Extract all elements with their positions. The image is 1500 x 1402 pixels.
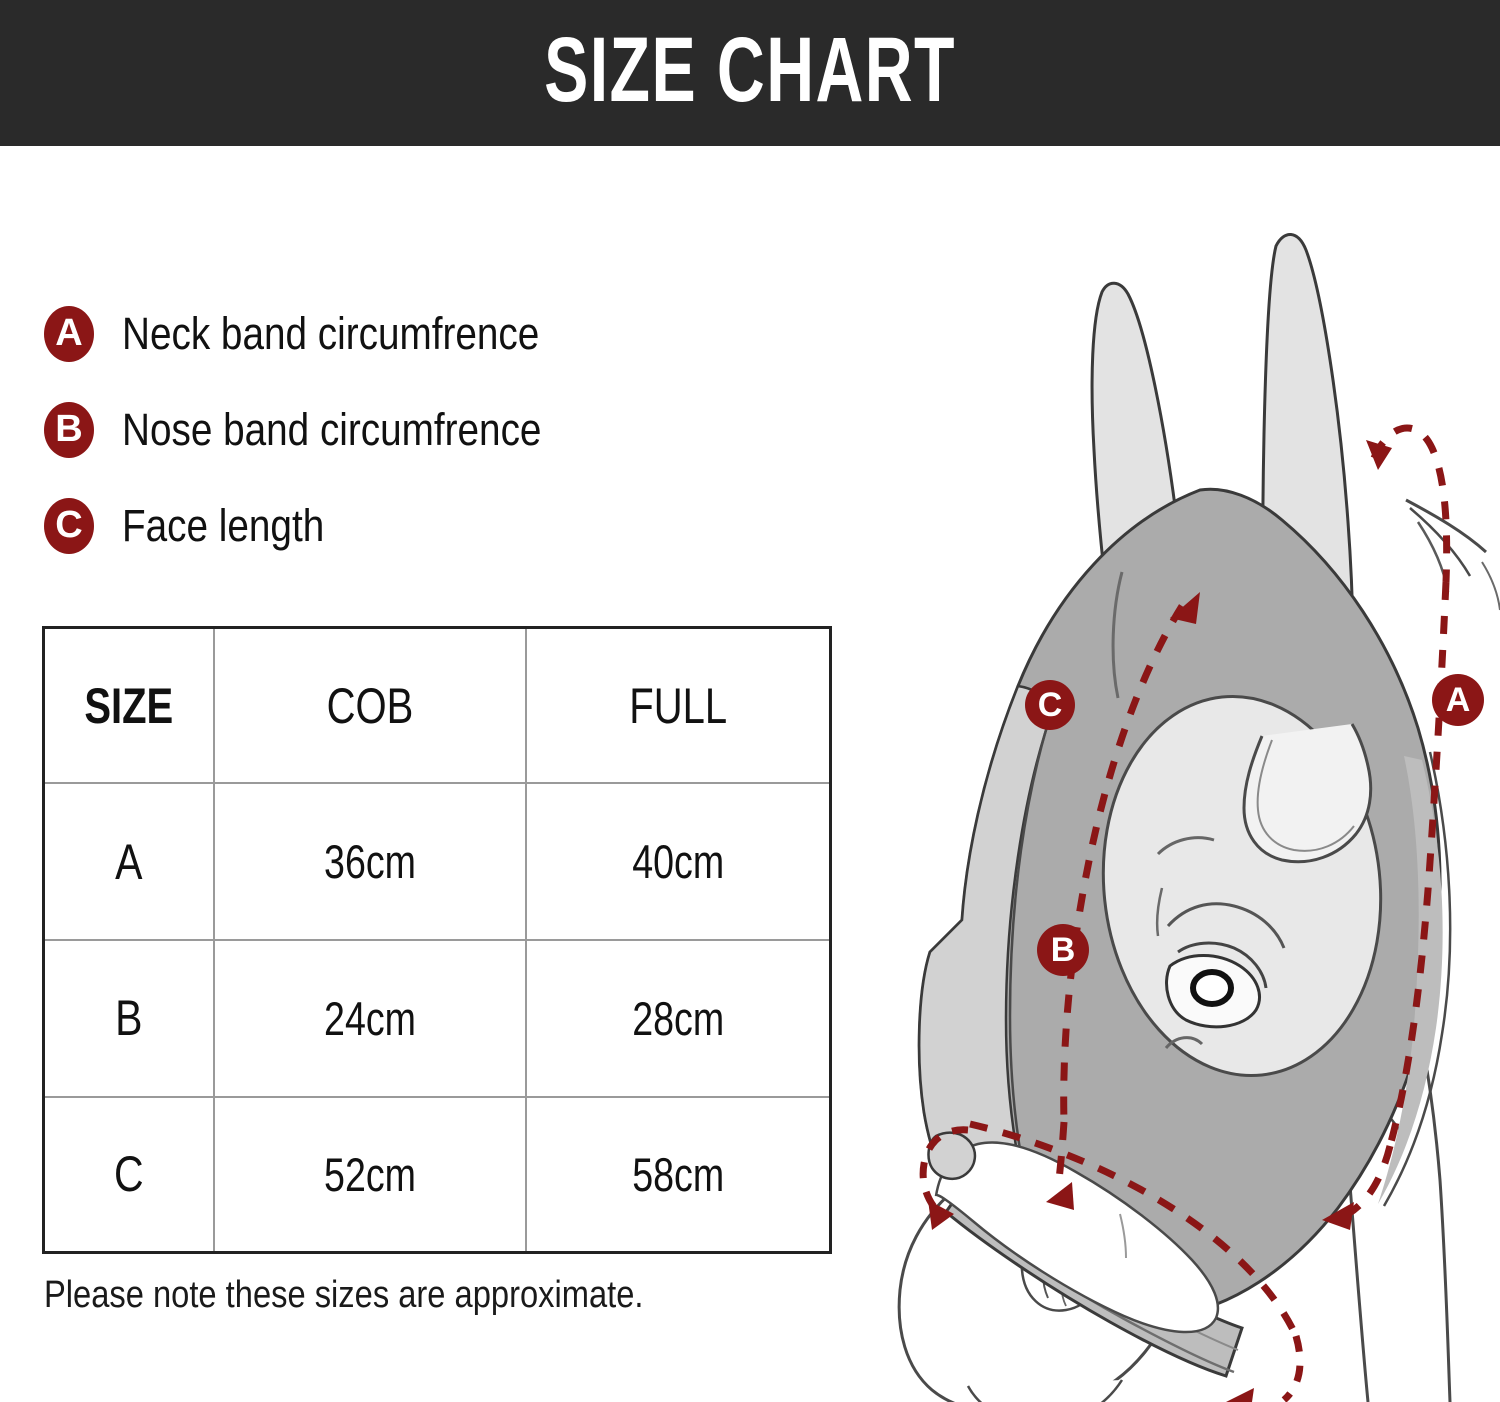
- cell-row-c-size: C: [45, 1097, 214, 1251]
- legend-item-b: B Nose band circumfrence: [44, 382, 844, 478]
- value-c-cob: 52cm: [246, 1147, 494, 1202]
- badge-b-icon: B: [44, 402, 94, 458]
- cell-row-b-cob: 24cm: [214, 940, 526, 1097]
- cell-row-a-full: 40cm: [526, 783, 829, 940]
- column-header-size-label: SIZE: [62, 677, 196, 735]
- cell-row-c-cob: 52cm: [214, 1097, 526, 1251]
- horse-mane: [1406, 500, 1500, 610]
- legend-label-c: Face length: [122, 500, 324, 552]
- column-header-full: FULL: [526, 629, 829, 783]
- horse-head-diagram: C A B: [870, 200, 1500, 1402]
- size-chart-page: SIZE CHART A Neck band circumfrence B No…: [0, 0, 1500, 1402]
- table-row: A 36cm 40cm: [45, 783, 829, 940]
- marker-b-label: B: [1051, 931, 1076, 969]
- size-table: SIZE COB FULL A 3: [42, 626, 832, 1254]
- badge-c-icon: C: [44, 498, 94, 554]
- header-bar: SIZE CHART: [0, 0, 1500, 146]
- marker-a-label: A: [1446, 681, 1471, 719]
- value-c-full: 58cm: [557, 1147, 799, 1202]
- cell-row-c-full: 58cm: [526, 1097, 829, 1251]
- marker-a-icon: A: [1432, 674, 1484, 726]
- cell-row-a-size: A: [45, 783, 214, 940]
- table-row: C 52cm 58cm: [45, 1097, 829, 1251]
- fly-mask: [919, 489, 1450, 1376]
- page-title: SIZE CHART: [544, 24, 956, 122]
- value-b-full: 28cm: [557, 991, 799, 1046]
- marker-c-icon: C: [1025, 680, 1075, 730]
- legend-list: A Neck band circumfrence B Nose band cir…: [44, 286, 844, 574]
- cell-row-b-size: B: [45, 940, 214, 1097]
- marker-b-icon: B: [1037, 924, 1089, 976]
- legend-item-a: A Neck band circumfrence: [44, 286, 844, 382]
- column-header-size: SIZE: [45, 629, 214, 783]
- legend-item-c: C Face length: [44, 478, 844, 574]
- row-label-a: A: [60, 833, 197, 891]
- value-a-cob: 36cm: [246, 834, 494, 889]
- value-b-cob: 24cm: [246, 991, 494, 1046]
- legend-label-a: Neck band circumfrence: [122, 308, 539, 360]
- column-header-cob: COB: [214, 629, 526, 783]
- value-a-full: 40cm: [557, 834, 799, 889]
- cell-row-a-cob: 36cm: [214, 783, 526, 940]
- legend-label-b: Nose band circumfrence: [122, 404, 541, 456]
- marker-c-label: C: [1038, 686, 1063, 724]
- left-column: A Neck band circumfrence B Nose band cir…: [0, 146, 880, 1402]
- table-row: B 24cm 28cm: [45, 940, 829, 1097]
- cell-row-b-full: 28cm: [526, 940, 829, 1097]
- column-header-full-label: FULL: [557, 677, 799, 735]
- approximate-sizes-note: Please note these sizes are approximate.: [44, 1274, 643, 1317]
- row-label-b: B: [60, 989, 197, 1047]
- column-header-cob-label: COB: [246, 677, 494, 735]
- badge-a-icon: A: [44, 306, 94, 362]
- row-label-c: C: [60, 1145, 197, 1203]
- table-header-row: SIZE COB FULL: [45, 629, 829, 783]
